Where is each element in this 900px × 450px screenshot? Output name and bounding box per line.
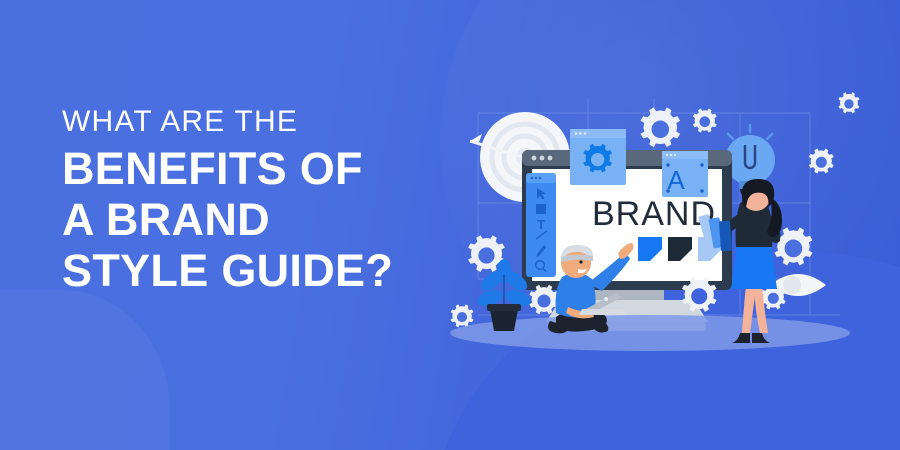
headline-line-2: A BRAND — [62, 195, 462, 246]
typography-card: A — [662, 151, 708, 197]
page-title: BENEFITS OF A BRAND STYLE GUIDE? — [62, 144, 462, 297]
window-dots — [531, 177, 542, 180]
swatch-blue — [638, 237, 662, 261]
headline-line-3: STYLE GUIDE? — [62, 246, 462, 297]
swatch-dark — [668, 237, 692, 261]
background-wave — [0, 290, 170, 450]
headline-line-1: BENEFITS OF — [62, 144, 462, 195]
gear-card — [570, 129, 626, 185]
screen-brand-text: BRAND — [592, 195, 716, 233]
headline-block: WHAT ARE THE BENEFITS OF A BRAND STYLE G… — [62, 107, 462, 297]
brand-style-guide-illustration: BRAND — [440, 85, 900, 385]
rectangle-tool-icon — [536, 204, 546, 214]
banner: WHAT ARE THE BENEFITS OF A BRAND STYLE G… — [0, 0, 900, 450]
window-dots — [532, 156, 553, 161]
text-tool-icon: T — [537, 217, 545, 232]
toolbar-panel: T — [526, 173, 556, 277]
letter-a-icon: A — [667, 165, 685, 195]
headline-kicker: WHAT ARE THE — [62, 107, 462, 137]
